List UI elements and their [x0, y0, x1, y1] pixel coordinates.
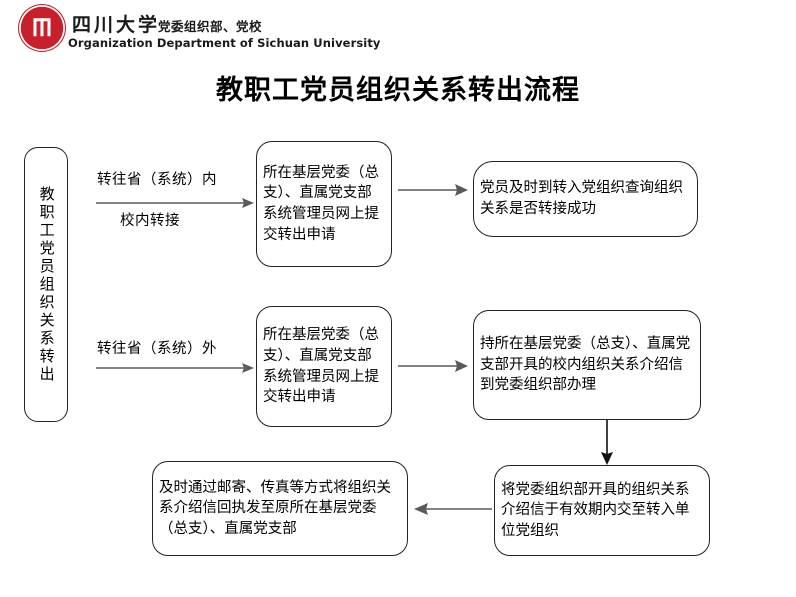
arrow-label-in-province-bottom: 校内转接: [120, 209, 180, 230]
page-title: 教职工党员组织关系转出流程: [0, 68, 796, 107]
arrow-label-in-province-top: 转往省（系统）内: [97, 168, 217, 189]
flow-node-out-province-step4-label: 及时通过邮寄、传真等方式将组织关系介绍信回执发至原所在基层党委（总支）、直属党支…: [153, 478, 407, 540]
flow-node-out-province-step1-label: 所在基层党委（总支）、直属党支部系统管理员网上提交转出申请: [257, 325, 391, 407]
arrow-source-to-out-province-step1: [96, 360, 256, 376]
flow-node-in-province-step1-label: 所在基层党委（总支）、直属党支部系统管理员网上提交转出申请: [257, 163, 391, 245]
flow-node-out-province-step3: 将党委组织部开具的组织关系介绍信于有效期内交至转入单位党组织: [494, 465, 710, 556]
flow-node-out-province-step2-label: 持所在基层党委（总支）、直属党支部开具的校内组织关系介绍信到党委组织部办理: [474, 334, 700, 396]
arrow-out-province-step3-to-step4: [412, 501, 494, 517]
arrow-out-province-step2-to-step3: [599, 420, 615, 466]
university-name: 四川大学: [72, 10, 160, 37]
flow-node-source: 教职工党员组织关系转出: [24, 147, 68, 422]
sichuan-university-seal-icon: [18, 4, 66, 52]
flow-node-in-province-step2: 党员及时到转入党组织查询组织关系是否转接成功: [473, 161, 698, 237]
flow-node-out-province-step2: 持所在基层党委（总支）、直属党支部开具的校内组织关系介绍信到党委组织部办理: [473, 310, 701, 420]
flow-node-out-province-step3-label: 将党委组织部开具的组织关系介绍信于有效期内交至转入单位党组织: [495, 480, 709, 542]
flow-node-out-province-step4: 及时通过邮寄、传真等方式将组织关系介绍信回执发至原所在基层党委（总支）、直属党支…: [152, 461, 408, 556]
department-name-en: Organization Department of Sichuan Unive…: [68, 36, 381, 50]
department-name-cn: 党委组织部、党校: [158, 16, 262, 35]
arrow-label-out-province-top: 转往省（系统）外: [97, 337, 217, 358]
flow-node-out-province-step1: 所在基层党委（总支）、直属党支部系统管理员网上提交转出申请: [256, 306, 392, 427]
arrow-in-province-step1-to-step2: [398, 182, 470, 198]
page-header: 四川大学 党委组织部、党校 Organization Department of…: [0, 0, 796, 56]
flow-node-in-province-step2-label: 党员及时到转入党组织查询组织关系是否转接成功: [474, 178, 697, 219]
flow-node-in-province-step1: 所在基层党委（总支）、直属党支部系统管理员网上提交转出申请: [256, 141, 392, 267]
flow-node-source-label: 教职工党员组织关系转出: [35, 186, 56, 384]
arrow-out-province-step1-to-step2: [398, 358, 470, 374]
